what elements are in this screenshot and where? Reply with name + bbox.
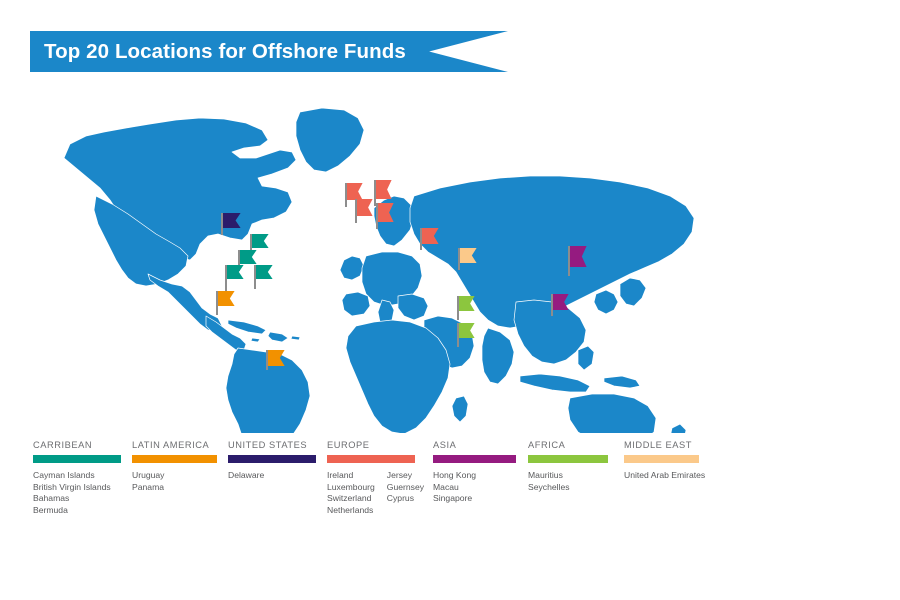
landmasses <box>64 108 694 433</box>
legend-item: Guernsey <box>387 482 424 494</box>
legend-column-asia: ASIAHong KongMacauSingapore <box>433 440 516 505</box>
marker-pole <box>221 213 223 235</box>
legend-items-europe: IrelandLuxembourgSwitzerlandNetherlandsJ… <box>327 470 415 516</box>
legend-subcolumn-africa-0: MauritiusSeychelles <box>528 470 570 493</box>
land-indonesia <box>520 374 590 392</box>
land-uk-ireland <box>340 256 364 280</box>
legend-subcolumn-asia-0: Hong KongMacauSingapore <box>433 470 476 505</box>
legend-item: Switzerland <box>327 493 375 505</box>
legend: CARRIBEANCayman IslandsBritish Virgin Is… <box>0 440 900 550</box>
legend-item: Uruguay <box>132 470 164 482</box>
legend-column-latin-america: LATIN AMERICAUruguayPanama <box>132 440 217 493</box>
page-title: Top 20 Locations for Offshore Funds <box>44 31 406 72</box>
land-madagascar <box>452 396 468 422</box>
marker-pole <box>376 203 378 229</box>
marker-pole <box>568 246 570 276</box>
land-cuba <box>228 320 266 334</box>
legend-item: Bahamas <box>33 493 111 505</box>
legend-heading-middle-east: MIDDLE EAST <box>624 440 699 450</box>
legend-heading-asia: ASIA <box>433 440 516 450</box>
legend-swatch-asia <box>433 455 516 463</box>
legend-heading-africa: AFRICA <box>528 440 608 450</box>
legend-item: Jersey <box>387 470 424 482</box>
land-iberia <box>342 292 370 316</box>
legend-subcolumn-middle-east-0: United Arab Emirates <box>624 470 705 482</box>
land-japan <box>620 278 646 306</box>
marker-pole <box>457 296 459 320</box>
legend-heading-europe: EUROPE <box>327 440 415 450</box>
legend-column-africa: AFRICAMauritiusSeychelles <box>528 440 608 493</box>
land-puerto-rico <box>291 336 300 340</box>
marker-pole <box>225 265 227 295</box>
legend-column-middle-east: MIDDLE EASTUnited Arab Emirates <box>624 440 699 482</box>
legend-item: United Arab Emirates <box>624 470 705 482</box>
land-new-zealand <box>670 424 686 433</box>
land-new-guinea <box>604 376 640 388</box>
legend-item: Panama <box>132 482 164 494</box>
legend-item: Bermuda <box>33 505 111 517</box>
marker-pole <box>457 323 459 347</box>
marker-pole <box>345 183 347 207</box>
legend-subcolumn-europe-1: JerseyGuernseyCyprus <box>387 470 424 516</box>
legend-items-latin-america: UruguayPanama <box>132 470 217 493</box>
legend-swatch-europe <box>327 455 415 463</box>
land-china-se <box>514 300 586 364</box>
marker-pole <box>254 265 256 289</box>
legend-subcolumn-europe-0: IrelandLuxembourgSwitzerlandNetherlands <box>327 470 375 516</box>
legend-heading-united-states: UNITED STATES <box>228 440 316 450</box>
land-greenland <box>296 108 364 172</box>
land-balkans <box>398 294 428 320</box>
marker-pole <box>266 350 268 370</box>
legend-subcolumn-latin-america-0: UruguayPanama <box>132 470 164 493</box>
land-australia <box>568 394 656 433</box>
land-philippines <box>578 346 594 370</box>
legend-items-asia: Hong KongMacauSingapore <box>433 470 516 505</box>
legend-items-united-states: Delaware <box>228 470 316 482</box>
legend-item: British Virgin Islands <box>33 482 111 494</box>
legend-subcolumn-united-states-0: Delaware <box>228 470 264 482</box>
land-africa <box>346 320 450 433</box>
legend-item: Cayman Islands <box>33 470 111 482</box>
legend-heading-latin-america: LATIN AMERICA <box>132 440 217 450</box>
land-hispaniola <box>268 332 288 342</box>
legend-item: Ireland <box>327 470 375 482</box>
legend-swatch-africa <box>528 455 608 463</box>
marker-pole <box>355 199 357 223</box>
legend-items-carribean: Cayman IslandsBritish Virgin IslandsBaha… <box>33 470 121 516</box>
legend-swatch-middle-east <box>624 455 699 463</box>
title-banner: Top 20 Locations for Offshore Funds <box>30 31 508 72</box>
marker-pole <box>216 291 218 315</box>
legend-item: Singapore <box>433 493 476 505</box>
legend-items-africa: MauritiusSeychelles <box>528 470 608 493</box>
land-india <box>482 328 514 384</box>
legend-swatch-carribean <box>33 455 121 463</box>
legend-swatch-latin-america <box>132 455 217 463</box>
land-korea-japan <box>594 290 618 314</box>
legend-item: Hong Kong <box>433 470 476 482</box>
land-jamaica <box>251 338 260 342</box>
legend-swatch-united-states <box>228 455 316 463</box>
legend-heading-carribean: CARRIBEAN <box>33 440 121 450</box>
legend-item: Macau <box>433 482 476 494</box>
legend-column-carribean: CARRIBEANCayman IslandsBritish Virgin Is… <box>33 440 121 516</box>
land-central-america <box>206 316 246 350</box>
legend-item: Luxembourg <box>327 482 375 494</box>
legend-column-europe: EUROPEIrelandLuxembourgSwitzerlandNether… <box>327 440 415 516</box>
legend-item: Mauritius <box>528 470 570 482</box>
legend-column-united-states: UNITED STATESDelaware <box>228 440 316 482</box>
world-map-container <box>0 88 900 433</box>
legend-item: Netherlands <box>327 505 375 517</box>
marker-pole <box>458 248 460 270</box>
legend-item: Seychelles <box>528 482 570 494</box>
marker-pole <box>420 228 422 250</box>
marker-pole <box>551 294 553 316</box>
legend-subcolumn-carribean-0: Cayman IslandsBritish Virgin IslandsBaha… <box>33 470 111 516</box>
legend-item: Cyprus <box>387 493 424 505</box>
legend-items-middle-east: United Arab Emirates <box>624 470 699 482</box>
legend-item: Delaware <box>228 470 264 482</box>
world-map-svg <box>0 88 900 433</box>
